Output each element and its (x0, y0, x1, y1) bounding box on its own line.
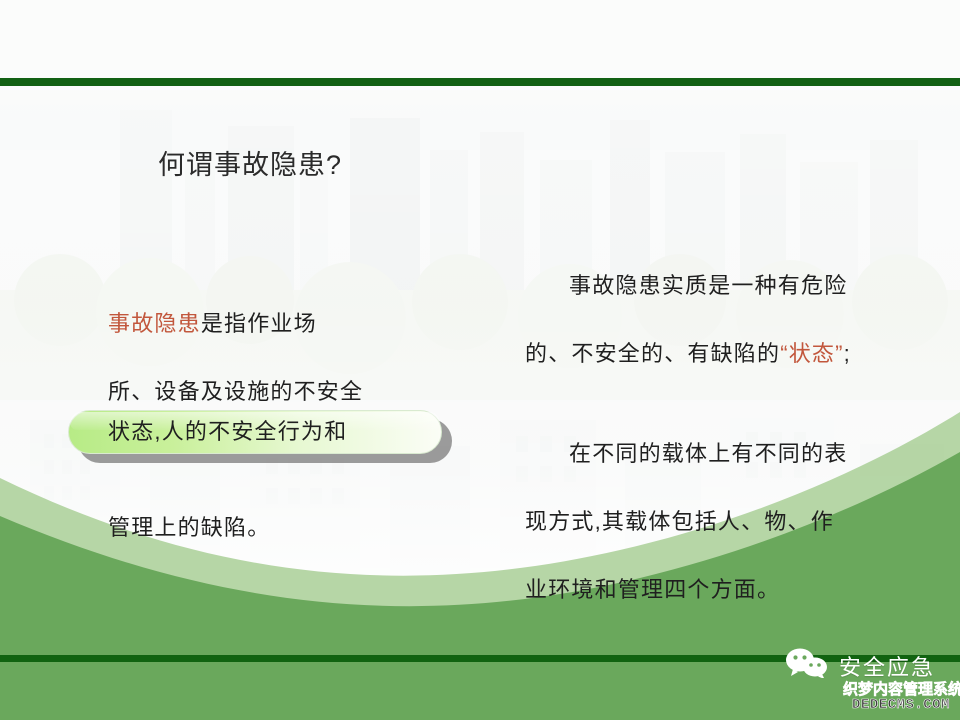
right-paragraph-1-line-1: 事故隐患实质是一种有危险 (525, 262, 890, 310)
right-paragraph-1-line-2: 的、不安全的、有缺陷的“状态”; (525, 330, 890, 378)
left-paragraph-line-1: 事故隐患是指作业场 (108, 300, 458, 348)
right-paragraph-2-line-3: 业环境和管理四个方面。 (525, 566, 890, 614)
accent-term-hazard: 事故隐患 (108, 311, 201, 336)
left-line1-rest: 是指作业场 (201, 311, 317, 336)
highlight-pill-text: 状态,人的不安全行为和 (108, 410, 458, 454)
right-p1-semicolon: ; (844, 341, 851, 366)
right-p1-plain: 的、不安全的、有缺陷的 (525, 341, 780, 366)
slide-canvas: 何谓事故隐患? 事故隐患是指作业场 所、设备及设施的不安全 管理上的缺陷。 状态… (0, 0, 960, 720)
right-paragraph-2-line-2: 现方式,其载体包括人、物、作 (525, 498, 890, 546)
top-white-margin (0, 0, 960, 80)
accent-term-state: “状态” (780, 341, 843, 366)
right-text-column: 事故隐患实质是一种有危险 的、不安全的、有缺陷的“状态”; 在不同的载体上有不同… (525, 262, 890, 614)
watermark-chinese: 织梦内容管理系统 (843, 682, 959, 698)
left-paragraph-line-2: 所、设备及设施的不安全 (108, 368, 458, 416)
watermark-domain: DEDECMS.COM (843, 698, 959, 713)
top-green-rule (0, 78, 960, 86)
left-paragraph-line-4: 管理上的缺陷。 (108, 504, 458, 552)
brand-name: 安全应急 (839, 650, 935, 682)
dedecms-watermark: 织梦内容管理系统 DEDECMS.COM (843, 682, 959, 712)
brand-block: 安全应急 (785, 648, 935, 683)
wechat-icon (785, 648, 829, 683)
page-title: 何谓事故隐患? (158, 143, 342, 182)
right-paragraph-2-line-1: 在不同的载体上有不同的表 (525, 430, 890, 478)
